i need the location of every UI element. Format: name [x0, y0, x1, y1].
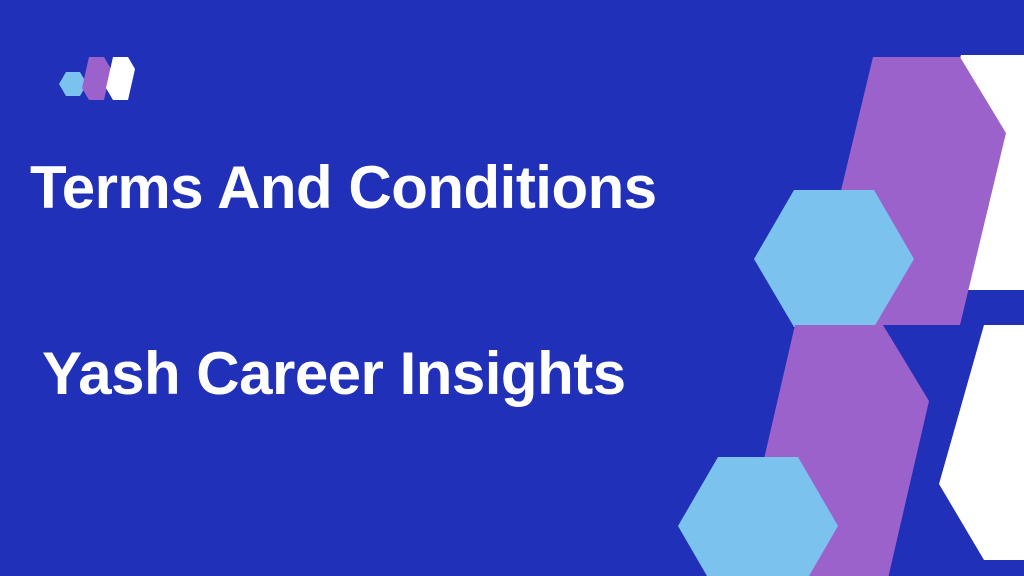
hex-lightblue-mid: [754, 190, 914, 327]
page-title-primary: Terms And Conditions: [30, 158, 657, 218]
hex-purple-bottom: [749, 325, 929, 576]
hex-purple-top: [827, 57, 1006, 325]
hex-white-top: [916, 55, 1024, 290]
logo-hex-tall-purple-icon: [82, 57, 111, 100]
hexagon-pattern: [0, 0, 1024, 576]
hex-white-bottom: [939, 325, 1024, 560]
logo-hex-tall-white-icon: [106, 57, 135, 100]
logo-hex-small-blue-icon: [59, 72, 87, 96]
slide-canvas: Terms And Conditions Yash Career Insight…: [0, 0, 1024, 576]
page-title-secondary: Yash Career Insights: [42, 344, 626, 404]
hex-lightblue-bottom: [678, 457, 838, 576]
yash-career-insights-logo[interactable]: [55, 48, 150, 110]
